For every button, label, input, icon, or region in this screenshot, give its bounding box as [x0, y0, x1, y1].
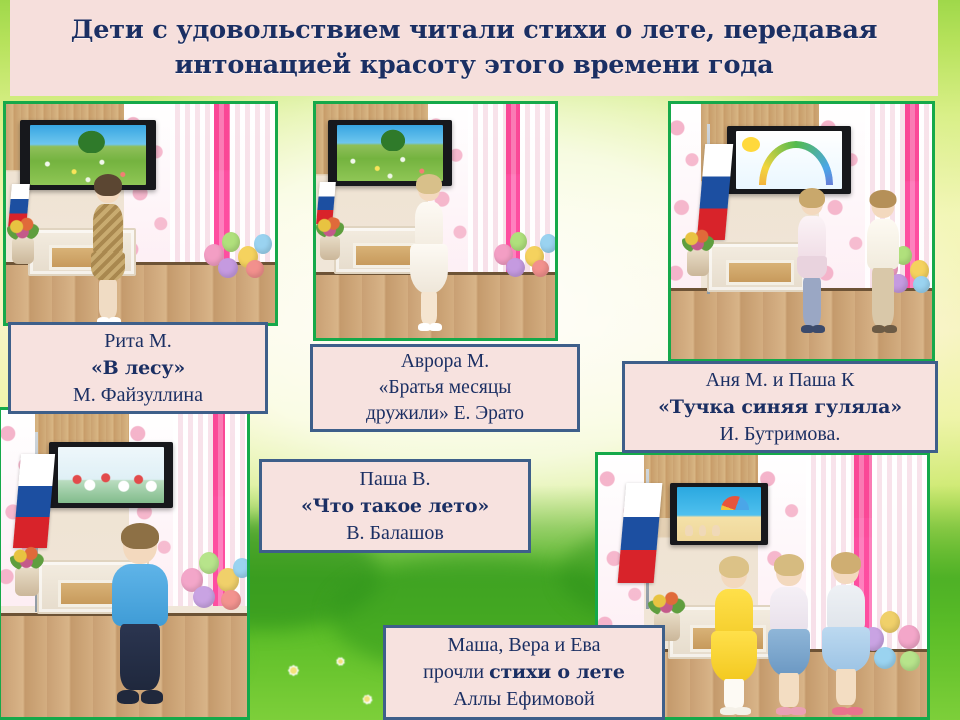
shoe [812, 325, 825, 333]
shoe [117, 690, 139, 704]
caption-masha-vera-eva: Маша, Вера и Ева прочли стихи о лете Алл… [383, 625, 665, 720]
child-figure-girl [714, 559, 754, 717]
caption-line-1: Аня М. и Паша К [706, 367, 855, 394]
tv-image-meadow [30, 125, 147, 185]
caption-rita: Рита М. «В лесу» М. Файзуллина [8, 322, 268, 414]
flower-decoration [12, 238, 34, 264]
caption-line-2-prefix: прочли [423, 661, 489, 683]
caption-line-2: «Что такое лето» [301, 493, 489, 520]
caption-pasha-v: Паша В. «Что такое лето» В. Балашов [259, 459, 531, 553]
caption-line-2: «Тучка синяя гуляла» [658, 394, 902, 421]
tv-image-meadow [337, 125, 444, 182]
shoe [734, 707, 751, 715]
photo-scene [1, 410, 247, 717]
caption-line-2-bold: стихи о лете [489, 661, 625, 683]
caption-line-1: Рита М. [104, 328, 171, 355]
photo-scene [671, 104, 932, 359]
balloon-cluster [202, 228, 278, 280]
title-line-1: Дети с удовольствием читали стихи о лете… [71, 13, 878, 48]
caption-avrora: Аврора М. «Братья месяцы дружили» Е. Эра… [310, 344, 580, 432]
caption-line-2: «В лесу» [91, 355, 185, 382]
shoe [141, 690, 163, 704]
caption-line-1: Паша В. [360, 466, 431, 493]
child-figure-girl [826, 555, 866, 717]
balloon-cluster [179, 550, 250, 612]
balloon-cluster [860, 607, 928, 673]
daisy-icon [352, 690, 382, 708]
child-figure-boy [867, 192, 899, 338]
photo-anya-pasha [668, 101, 935, 362]
shoe [790, 707, 806, 715]
child-figure-girl [797, 190, 827, 336]
child-figure [414, 176, 444, 332]
child-figure-girl [770, 557, 808, 717]
tv-screen [727, 126, 851, 194]
caption-line-3: В. Балашов [346, 520, 444, 547]
tv-image-flowers [58, 447, 165, 504]
tv-screen [49, 442, 173, 508]
caption-line-2: «Братья месяцы [379, 375, 512, 401]
slide-canvas: Дети с удовольствием читали стихи о лете… [0, 0, 960, 720]
child-figure [92, 176, 124, 326]
balloon-cluster [492, 228, 558, 280]
caption-line-3: И. Бутримова. [720, 421, 841, 448]
tv-screen [670, 483, 768, 545]
title-line-2: интонацией красоту этого времени года [175, 48, 774, 83]
flower-decoration [320, 236, 340, 260]
daisy-icon [327, 653, 353, 669]
flower-decoration [687, 250, 709, 276]
photo-avrora [313, 101, 558, 341]
caption-line-3: дружили» Е. Эрато [366, 401, 524, 427]
flower-decoration [15, 568, 39, 596]
photo-pasha-v [0, 407, 250, 720]
page-title: Дети с удовольствием читали стихи о лете… [10, 0, 938, 96]
shoe [429, 323, 442, 331]
tv-image-beach [677, 487, 761, 540]
caption-line-1: Маша, Вера и Ева [447, 632, 600, 659]
caption-anya-pasha: Аня М. и Паша К «Тучка синяя гуляла» И. … [622, 361, 938, 453]
photo-rita [3, 101, 278, 326]
shoe [884, 325, 897, 333]
tv-image-rainbow [736, 131, 843, 190]
caption-line-1: Аврора М. [401, 349, 489, 375]
tv-screen [20, 120, 156, 190]
photo-scene [316, 104, 555, 338]
daisy-icon [276, 660, 310, 680]
decor-fireplace [707, 242, 807, 292]
photo-scene [6, 104, 275, 323]
shoe [846, 707, 863, 715]
caption-line-3: М. Файзуллина [73, 382, 203, 409]
child-figure-boy [113, 526, 167, 712]
caption-line-2: прочли стихи о лете [423, 659, 625, 686]
caption-line-3: Аллы Ефимовой [453, 686, 594, 713]
